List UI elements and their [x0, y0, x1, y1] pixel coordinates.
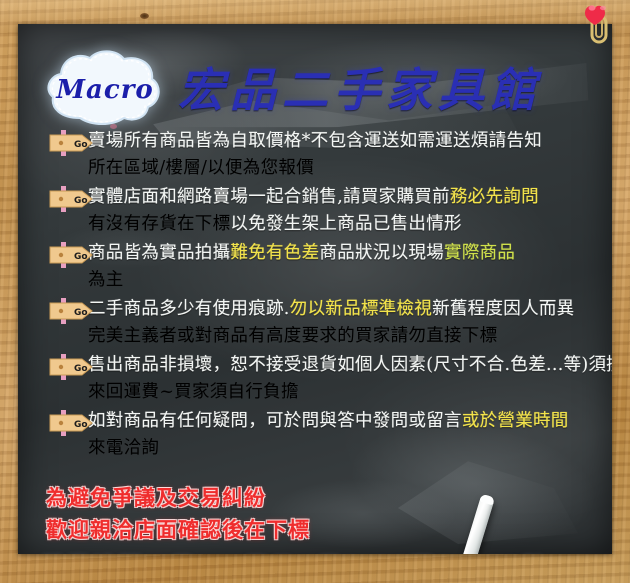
rule-text-yellow: 為主 [88, 270, 124, 290]
rule-text-yellow: 務必先詢問 [450, 187, 539, 207]
go-signpost-icon: Go [48, 410, 94, 436]
rule-text-yellow: 實際商品 [444, 243, 515, 263]
list-item: Go 商品皆為實品拍攝難免有色差商品狀況以現場實際商品 為主 [26, 240, 612, 294]
rule-text-white: 商品皆為實品拍攝 [88, 243, 230, 263]
rule-text-white: 售出商品非損壞，恕不接受退貨如個人因素(尺寸不合.色差...等)須換貨 [88, 355, 612, 375]
svg-text:Go: Go [74, 364, 88, 374]
svg-text:Go: Go [74, 420, 88, 430]
rule-line: 二手商品多少有使用痕跡.勿以新品標準檢視新舊程度因人而異 [88, 296, 612, 323]
rule-text-yellow: 難免有色差 [230, 243, 319, 263]
rule-line: 來回運費~買家須自行負擔 [88, 379, 612, 406]
list-item: Go 售出商品非損壞，恕不接受退貨如個人因素(尺寸不合.色差...等)須換貨 來… [26, 352, 612, 406]
rule-line: 售出商品非損壞，恕不接受退貨如個人因素(尺寸不合.色差...等)須換貨 [88, 352, 612, 379]
business-hours: 營業時間：周一~周日/ 早9:00至21:00點 [40, 549, 548, 554]
rule-text-yellow: 勿以新品標準檢視 [290, 299, 432, 319]
go-signpost-icon: Go [48, 186, 94, 212]
list-item: Go 二手商品多少有使用痕跡.勿以新品標準檢視新舊程度因人而異 完美主義者或對商… [26, 296, 612, 350]
chalkboard-surface: Macro 宏品二手家具館 Go 賣場所有商品皆為自取價格*不包含運送如需運送煩… [18, 24, 612, 554]
rule-line: 實體店面和網路賣場一起合銷售,請買家購買前務必先詢問 [88, 184, 612, 211]
heart-paperclip-icon [572, 0, 626, 45]
svg-text:Go: Go [74, 308, 88, 318]
rule-text-yellow: 有沒有存貨在下標 [88, 214, 230, 234]
rule-line: 來電洽詢 [88, 435, 612, 462]
warning-line: 為避免爭議及交易糾紛 [46, 482, 486, 514]
rule-line: 有沒有存貨在下標以免發生架上商品已售出情形 [88, 211, 612, 238]
rule-text-white: 二手商品多少有使用痕跡. [88, 299, 290, 319]
list-item: Go 如對商品有任何疑問，可於問與答中發問或留言或於營業時間 來電洽詢 [26, 408, 612, 462]
rule-text-white: 新舊程度因人而異 [432, 299, 574, 319]
rule-line: 如對商品有任何疑問，可於問與答中發問或留言或於營業時間 [88, 408, 612, 435]
rules-list: Go 賣場所有商品皆為自取價格*不包含運送如需運送煩請告知 所在區域/樓層/以便… [26, 128, 612, 464]
rule-line: 商品皆為實品拍攝難免有色差商品狀況以現場實際商品 [88, 240, 612, 267]
board-header: Macro 宏品二手家具館 [18, 38, 612, 118]
logo-text: Macro [46, 75, 164, 105]
rule-line: 所在區域/樓層/以便為您報價 [88, 155, 612, 182]
macro-cloud-logo: Macro [46, 48, 164, 128]
go-signpost-icon: Go [48, 242, 94, 268]
rule-text-white: 賣場所有商品皆為自取價格*不包含運送如需運送煩請告知 [88, 131, 542, 151]
rule-text-white: 商品狀況以現場 [319, 243, 444, 263]
rule-text-yellow: 或於營業時間 [462, 411, 569, 431]
warning-line: 歡迎親洽店面確認後在下標 [46, 514, 486, 546]
svg-text:Go: Go [74, 196, 88, 206]
svg-text:Go: Go [74, 252, 88, 262]
svg-text:Go: Go [74, 140, 88, 150]
warning-notice: 為避免爭議及交易糾紛 歡迎親洽店面確認後在下標 [46, 482, 486, 546]
list-item: Go 賣場所有商品皆為自取價格*不包含運送如需運送煩請告知 所在區域/樓層/以便… [26, 128, 612, 182]
rule-text-white: 以免發生架上商品已售出情形 [230, 214, 461, 234]
go-signpost-icon: Go [48, 298, 94, 324]
rule-text-yellow: 完美主義者或對商品有高度要求的買家請勿直接下標 [88, 326, 497, 346]
go-signpost-icon: Go [48, 354, 94, 380]
rule-line: 為主 [88, 267, 612, 294]
list-item: Go 實體店面和網路賣場一起合銷售,請買家購買前務必先詢問 有沒有存貨在下標以免… [26, 184, 612, 238]
wood-knot [140, 13, 149, 19]
rule-line: 賣場所有商品皆為自取價格*不包含運送如需運送煩請告知 [88, 128, 612, 155]
rule-text-yellow: 來電洽詢 [88, 438, 159, 458]
chalkboard-sign-image: Macro 宏品二手家具館 Go 賣場所有商品皆為自取價格*不包含運送如需運送煩… [0, 0, 630, 583]
page-title: 宏品二手家具館 [178, 54, 612, 120]
rule-text-yellow: 來回運費~買家須自行負擔 [88, 382, 299, 402]
rule-text-yellow: 所在區域/樓層/以便為您報價 [88, 158, 314, 178]
go-signpost-icon: Go [48, 130, 94, 156]
rule-text-white: 實體店面和網路賣場一起合銷售,請買家購買前 [88, 187, 450, 207]
rule-text-white: 如對商品有任何疑問，可於問與答中發問或留言 [88, 411, 462, 431]
rule-line: 完美主義者或對商品有高度要求的買家請勿直接下標 [88, 323, 612, 350]
